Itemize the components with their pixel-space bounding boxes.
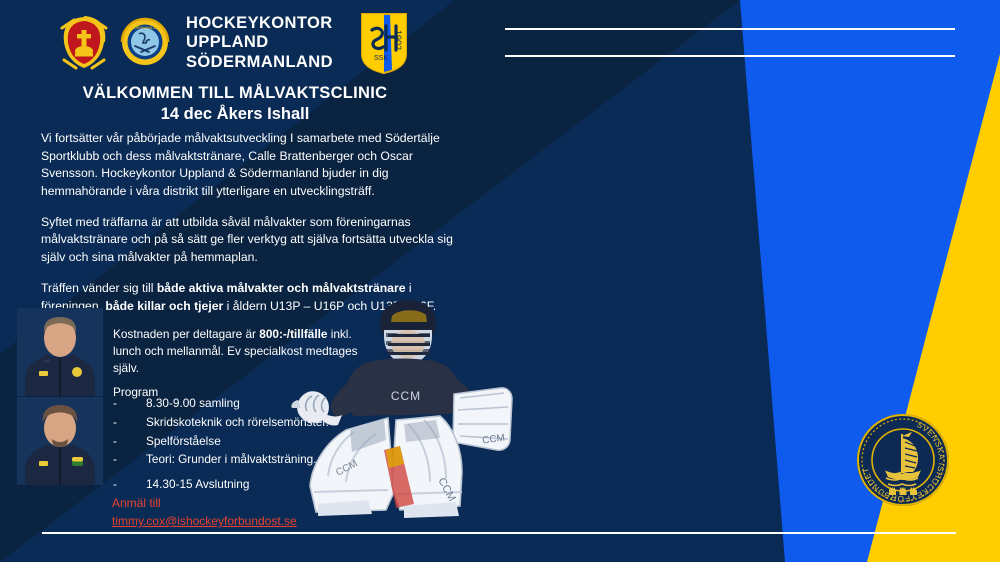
signup-block: Anmäl till timmy.cox@ishockeyforbundost.… bbox=[112, 494, 297, 530]
top-rule-1 bbox=[505, 28, 955, 30]
list-item-label: Spelförståelse bbox=[146, 436, 221, 448]
poster-slide: SÖDERMANLAND HOCKEYKONTOR UPPLAND SÖDERM… bbox=[0, 0, 1000, 562]
sodermanland-crest-icon: SÖDERMANLAND bbox=[119, 12, 171, 74]
title-block: VÄLKOMMEN TILL MÅLVAKTSCLINIC 14 dec Åke… bbox=[0, 84, 470, 124]
poster-title: VÄLKOMMEN TILL MÅLVAKTSCLINIC bbox=[0, 84, 470, 103]
paragraph-2: Syftet med träffarna är att utbilda såvä… bbox=[41, 214, 461, 267]
brand-line-2: UPPLAND bbox=[186, 33, 333, 52]
signup-label: Anmäl till bbox=[112, 496, 161, 510]
bullet-marker: - bbox=[113, 436, 146, 448]
uppland-crest-icon bbox=[58, 12, 110, 74]
brand-line-1: HOCKEYKONTOR bbox=[186, 14, 333, 33]
p3-pre: Träffen vänder sig till bbox=[41, 281, 157, 295]
bullet-marker: - bbox=[113, 479, 146, 491]
svg-text:CCM: CCM bbox=[391, 389, 421, 403]
swedish-ice-hockey-federation-logo: SVENSKA ISHOCKEYFÖRBUNDET bbox=[855, 412, 951, 508]
svg-text:SÖDERMANLAND: SÖDERMANLAND bbox=[128, 25, 162, 30]
body-copy: Vi fortsätter vår påbörjade målvaktsutve… bbox=[41, 130, 461, 328]
paragraph-1: Vi fortsätter vår påbörjade målvaktsutve… bbox=[41, 130, 461, 201]
bullet-marker: - bbox=[113, 454, 146, 466]
list-item-label: 14.30-15 Avslutning bbox=[146, 479, 249, 491]
brand-name: HOCKEYKONTOR UPPLAND SÖDERMANLAND bbox=[186, 14, 333, 72]
poster-subtitle: 14 dec Åkers Ishall bbox=[0, 105, 470, 124]
coach-portrait-1 bbox=[17, 308, 103, 396]
sodertalje-sk-logo-icon: 1902 SSK bbox=[356, 10, 412, 76]
svg-text:1902: 1902 bbox=[393, 30, 403, 50]
top-rule-2 bbox=[505, 55, 955, 57]
brand-line-3: SÖDERMANLAND bbox=[186, 53, 333, 72]
bottom-rule bbox=[42, 532, 956, 534]
bullet-marker: - bbox=[113, 398, 146, 410]
header: SÖDERMANLAND HOCKEYKONTOR UPPLAND SÖDERM… bbox=[58, 10, 412, 76]
goalie-photo: CCM CCM CCM CCM bbox=[288, 300, 538, 530]
cost-pre: Kostnaden per deltagare är bbox=[113, 327, 259, 341]
p3-bold-1: både aktiva målvakter och målvaktstränar… bbox=[157, 281, 406, 295]
p3-bold-2: både killar och tjejer bbox=[105, 299, 223, 313]
signup-email-link[interactable]: timmy.cox@ishockeyforbundost.se bbox=[112, 512, 297, 530]
svg-text:SSK: SSK bbox=[374, 55, 388, 62]
list-item-label: 8.30-9.00 samling bbox=[146, 398, 240, 410]
bullet-marker: - bbox=[113, 417, 146, 429]
coach-portrait-2 bbox=[17, 397, 103, 485]
